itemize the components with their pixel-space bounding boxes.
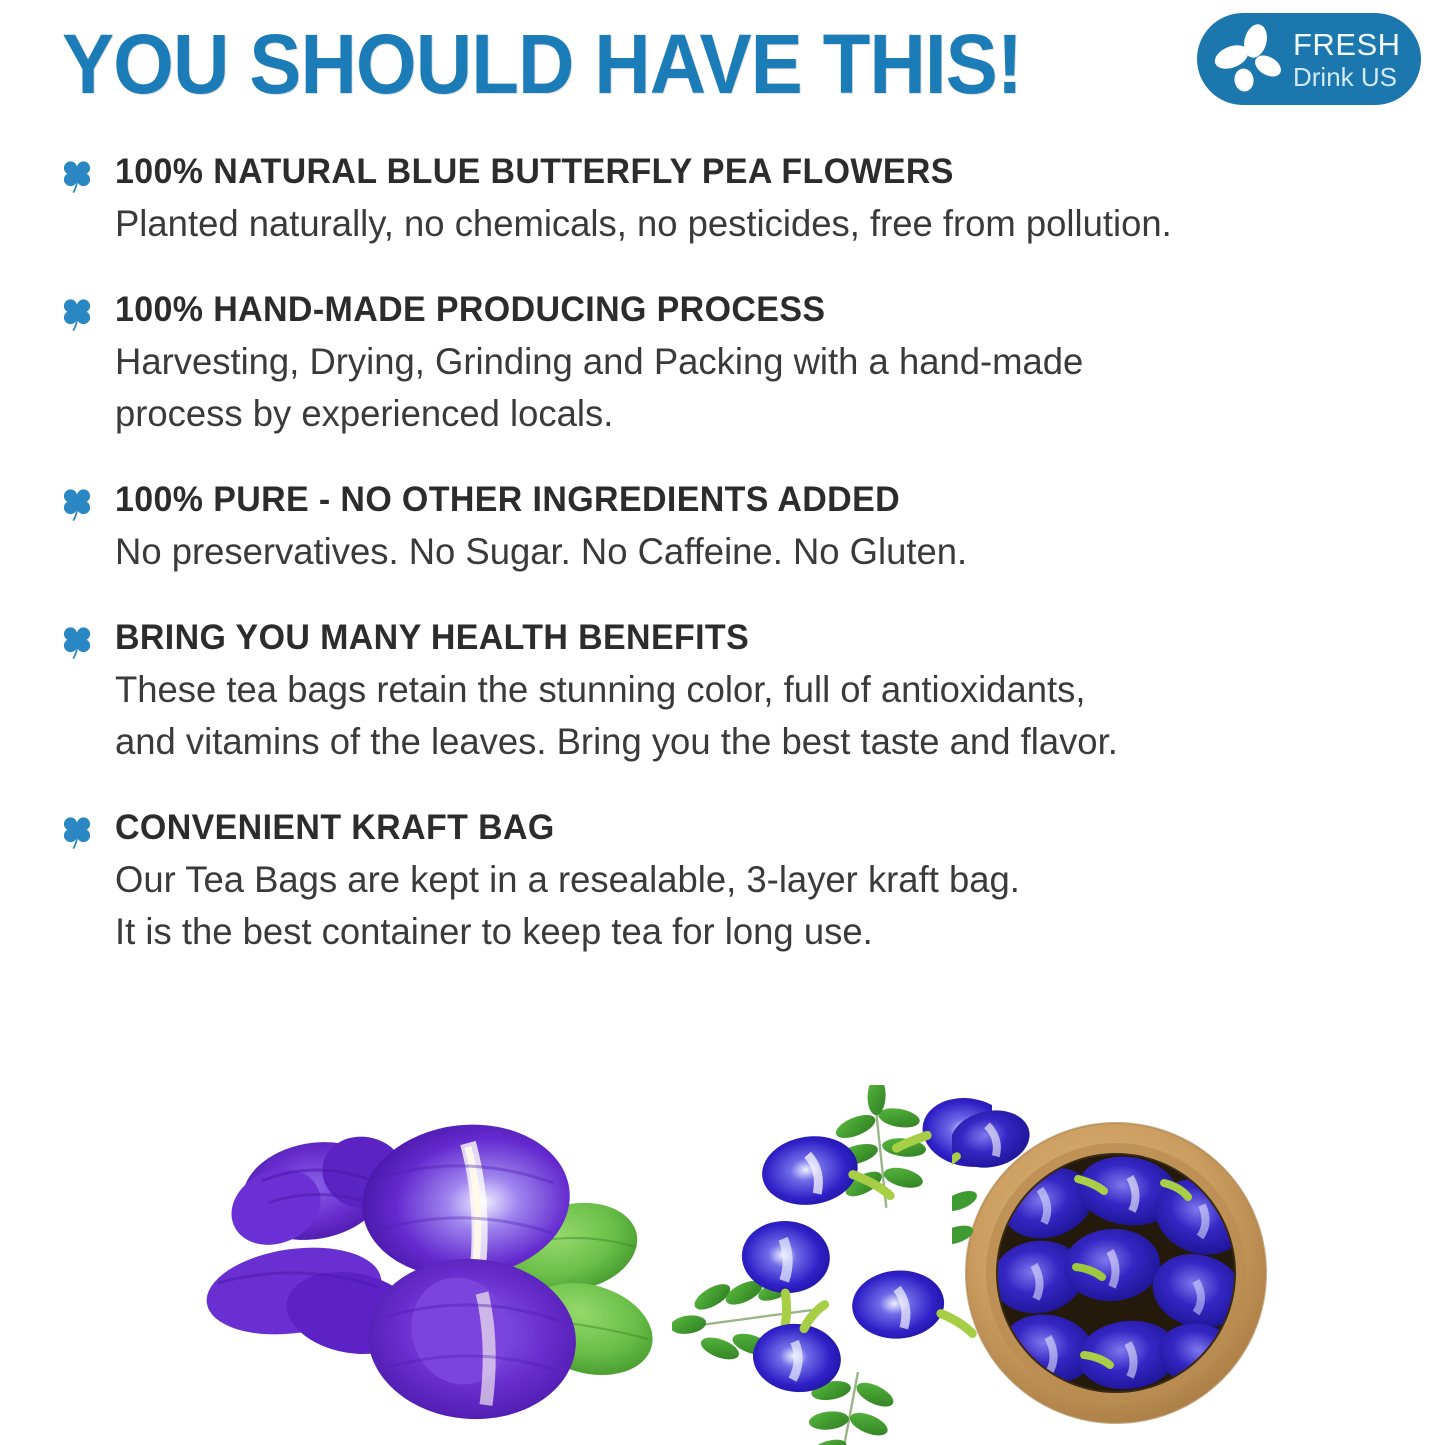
- feature-description: Planted naturally, no chemicals, no pest…: [115, 198, 1405, 250]
- page-title: YOU SHOULD HAVE THIS!: [62, 18, 1022, 110]
- logo-brand-primary: FRESH: [1293, 29, 1401, 60]
- feature-title: CONVENIENT KRAFT BAG: [115, 806, 1386, 850]
- feature-description-line: These tea bags retain the stunning color…: [115, 664, 1405, 716]
- feature-title: 100% HAND-MADE PRODUCING PROCESS: [115, 288, 1386, 332]
- feature-description: Our Tea Bags are kept in a resealable, 3…: [115, 854, 1405, 958]
- feature-list: 100% NATURAL BLUE BUTTERFLY PEA FLOWERSP…: [0, 150, 1445, 996]
- leaf-cluster-icon: [1211, 22, 1289, 96]
- scattered-flowers-and-leaves-photo: [672, 1085, 992, 1445]
- feature-title: BRING YOU MANY HEALTH BENEFITS: [115, 616, 1386, 660]
- feature-description-line: It is the best container to keep tea for…: [115, 906, 1405, 958]
- clover-icon: [60, 486, 94, 522]
- feature-description-line: Planted naturally, no chemicals, no pest…: [115, 198, 1405, 250]
- feature-item: 100% NATURAL BLUE BUTTERFLY PEA FLOWERSP…: [0, 150, 1445, 250]
- wooden-bowl-of-dried-flowers-photo: [952, 1105, 1282, 1445]
- feature-item: 100% PURE - NO OTHER INGREDIENTS ADDEDNo…: [0, 478, 1445, 578]
- clover-icon: [60, 296, 94, 332]
- feature-description-line: No preservatives. No Sugar. No Caffeine.…: [115, 526, 1405, 578]
- clover-icon: [60, 624, 94, 660]
- feature-description: Harvesting, Drying, Grinding and Packing…: [115, 336, 1405, 440]
- feature-title: 100% PURE - NO OTHER INGREDIENTS ADDED: [115, 478, 1386, 522]
- feature-description-line: process by experienced locals.: [115, 388, 1405, 440]
- header: YOU SHOULD HAVE THIS! FRESH Drink US: [0, 0, 1445, 140]
- clover-icon: [60, 158, 94, 194]
- logo-wordmark: FRESH Drink US: [1293, 29, 1401, 90]
- feature-description-line: Harvesting, Drying, Grinding and Packing…: [115, 336, 1405, 388]
- infographic-page: YOU SHOULD HAVE THIS! FRESH Drink US: [0, 0, 1445, 1445]
- feature-description: No preservatives. No Sugar. No Caffeine.…: [115, 526, 1405, 578]
- feature-item: BRING YOU MANY HEALTH BENEFITSThese tea …: [0, 616, 1445, 768]
- butterfly-pea-flower-cluster-photo: [196, 1107, 666, 1445]
- feature-item: 100% HAND-MADE PRODUCING PROCESSHarvesti…: [0, 288, 1445, 440]
- logo-brand-secondary: Drink US: [1293, 64, 1401, 90]
- feature-title: 100% NATURAL BLUE BUTTERFLY PEA FLOWERS: [115, 150, 1386, 194]
- clover-icon: [60, 814, 94, 850]
- feature-description-line: Our Tea Bags are kept in a resealable, 3…: [115, 854, 1405, 906]
- feature-item: CONVENIENT KRAFT BAGOur Tea Bags are kep…: [0, 806, 1445, 958]
- feature-description: These tea bags retain the stunning color…: [115, 664, 1405, 768]
- product-photo-strip: [0, 1085, 1445, 1445]
- brand-logo: FRESH Drink US: [1197, 13, 1421, 105]
- feature-description-line: and vitamins of the leaves. Bring you th…: [115, 716, 1405, 768]
